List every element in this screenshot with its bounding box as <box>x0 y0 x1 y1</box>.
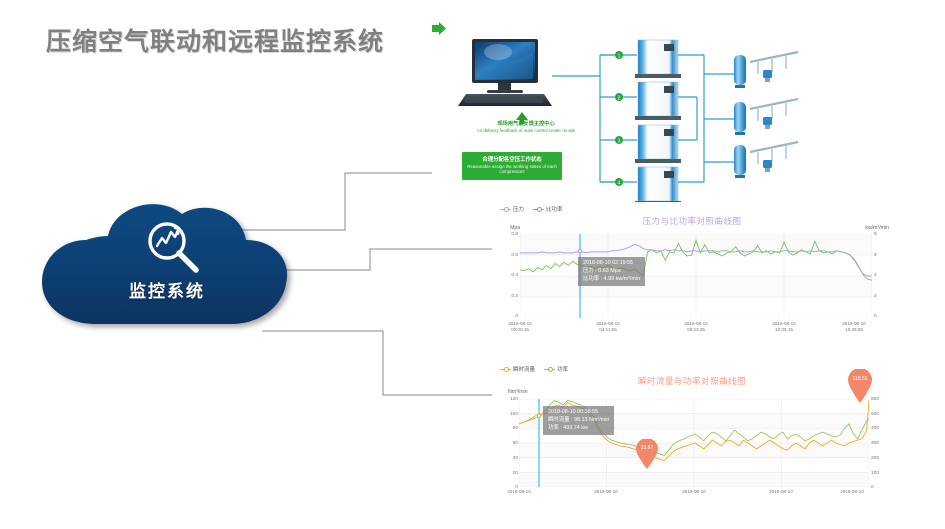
legend-label: 瞬时流量 <box>513 365 535 373</box>
y2-tick: 200 <box>871 456 891 461</box>
legend-item-power[interactable]: 功率 <box>544 365 568 373</box>
y-tick: 80 <box>494 426 518 431</box>
x-tick-time: 12:35:15 <box>775 327 793 332</box>
callout-text-en: Reasonable assign the working states of … <box>462 164 562 175</box>
x-tick-time: 08:23:35 <box>687 327 705 332</box>
compressor-unit <box>635 82 681 120</box>
x-tick: 2018-08-10 00:00:15 <box>498 321 542 332</box>
x-tick-date: 2018-08-10 <box>684 321 708 326</box>
x-tick-time: 00:00:15 <box>511 327 529 332</box>
tooltip-row-flow: 瞬时流量 : 98.13 Nm³/min <box>548 417 609 425</box>
x-tick-date: 2018-08-10 <box>508 321 532 326</box>
air-tank-and-distribution <box>734 142 798 178</box>
legend-label: 比功率 <box>546 205 563 213</box>
y-tick: 0.4 <box>496 273 518 278</box>
y2-tick: 6 <box>874 253 890 258</box>
tooltip-timestamp: 2018-08-10 00:38:55 <box>548 409 609 417</box>
y-tick: 0 <box>496 314 518 319</box>
chart-title: 瞬时流量与功率对照曲线图 <box>492 375 892 387</box>
y2-tick: 300 <box>871 441 891 446</box>
x-tick: 2018-08-10 <box>497 489 541 495</box>
chart-tooltip: 2018-08-10 02:19:55 压力 : 0.63 Mpa 比功率 : … <box>578 257 645 286</box>
x-tick-time: 16:46:55 <box>845 327 863 332</box>
min-marker-label: 33.87 <box>633 445 661 451</box>
desktop-computer-icon <box>458 39 552 106</box>
compressor-unit <box>635 167 681 202</box>
y-tick: 0.6 <box>496 253 518 258</box>
svg-text:2: 2 <box>618 96 621 102</box>
chart-title: 压力与比功率对照曲线图 <box>492 215 892 227</box>
y-tick: 40 <box>494 456 518 461</box>
callout-box: 合理分配各空压工作状态 Reasonable assign the workin… <box>462 152 562 180</box>
legend-label: 压力 <box>513 205 524 213</box>
y2-tick: 4 <box>874 273 890 278</box>
system-topology-diagram: 1 2 3 4 <box>432 22 942 202</box>
y2-axis-unit: kw/m³/min <box>865 225 889 231</box>
tooltip-row-power: 功率 : 493.74 kw <box>548 425 609 433</box>
legend-item-specific-power[interactable]: 比功率 <box>533 205 563 213</box>
air-tank-and-distribution <box>734 99 798 135</box>
monitoring-cloud[interactable]: 监控系统 <box>36 196 298 332</box>
air-tank-and-distribution <box>734 52 798 88</box>
x-tick-time: 04:11:55 <box>599 327 617 332</box>
x-tick: 2018-08-10 12:35:15 <box>762 321 806 332</box>
presentation-slide: 压缩空气联动和远程监控系统 <box>0 0 945 529</box>
y-tick: 20 <box>494 471 518 476</box>
tooltip-timestamp: 2018-08-10 02:19:55 <box>583 260 640 268</box>
y-axis-unit: Nm³/min <box>508 389 528 395</box>
y2-tick: 500 <box>871 412 891 417</box>
y2-tick: 0 <box>874 314 890 319</box>
green-right-arrow-icon <box>432 22 446 35</box>
legend-item-pressure[interactable]: 压力 <box>500 205 524 213</box>
y2-tick: 2 <box>874 294 890 299</box>
chart-legend[interactable]: 瞬时流量 功率 <box>500 365 568 373</box>
max-marker-pin-icon <box>847 369 873 403</box>
legend-marker-icon <box>533 207 544 212</box>
flow-power-chart[interactable]: 瞬时流量 功率 瞬时流量与功率对照曲线图 Nm³/min 120 100 80 … <box>492 363 892 513</box>
y-tick: 0.2 <box>496 294 518 299</box>
x-tick: 2018-08-10 04:11:55 <box>586 321 630 332</box>
legend-label: 功率 <box>557 365 568 373</box>
tooltip-row-specific-power: 比功率 : 4.99 kw/m³/min <box>583 276 640 284</box>
control-center-caption-en: Air delivery feedback of main control ce… <box>458 128 594 133</box>
y2-tick: 400 <box>871 426 891 431</box>
svg-text:1: 1 <box>618 54 621 60</box>
node-dots: 1 2 3 4 <box>615 51 623 187</box>
max-marker-label: 118.55 <box>846 376 874 382</box>
pressure-power-chart[interactable]: 压力 比功率 压力与比功率对照曲线图 Mpa kw/m³/min 0.8 0.6… <box>492 203 892 338</box>
compressor-unit <box>635 40 681 78</box>
x-tick-date: 2018-08-10 <box>772 321 796 326</box>
x-tick: 2018-08-10 <box>759 489 803 495</box>
y-tick: 60 <box>494 441 518 446</box>
control-center-caption: 现场用气量反馈主控中心 Air delivery feedback of mai… <box>458 122 594 133</box>
x-tick-date: 2018-08-10 <box>596 321 620 326</box>
x-tick: 2018-08-10 <box>584 489 628 495</box>
magnifier-chart-icon <box>144 218 202 276</box>
min-marker-pin-icon <box>635 439 659 469</box>
y-tick: 100 <box>494 412 518 417</box>
cloud-label: 监控系统 <box>36 277 298 302</box>
svg-text:4: 4 <box>618 181 621 187</box>
legend-marker-icon <box>500 367 511 372</box>
legend-marker-icon <box>500 207 511 212</box>
tooltip-row-pressure: 压力 : 0.63 Mpa <box>583 268 640 276</box>
x-tick-date: 2018-08-10 <box>842 321 866 326</box>
y2-tick: 0 <box>871 485 891 490</box>
max-marker: 118.55 <box>847 369 873 408</box>
x-tick: 2018-08-10 16:46:55 <box>832 321 876 332</box>
svg-text:3: 3 <box>618 139 621 145</box>
y-tick: 0.8 <box>496 232 518 237</box>
page-title: 压缩空气联动和远程监控系统 <box>46 22 384 58</box>
y-axis-unit: Mpa <box>510 225 520 231</box>
chart-tooltip: 2018-08-10 00:38:55 瞬时流量 : 98.13 Nm³/min… <box>543 406 614 435</box>
y2-tick: 100 <box>871 471 891 476</box>
y2-tick: 8 <box>874 232 890 237</box>
legend-marker-icon <box>544 367 555 372</box>
x-tick: 2018-08-10 <box>830 489 874 495</box>
x-tick: 2018-08-10 08:23:35 <box>674 321 718 332</box>
compressor-unit <box>635 125 681 163</box>
chart-plot-area[interactable] <box>520 234 872 318</box>
x-tick: 2018-08-10 <box>672 489 716 495</box>
min-marker: 33.87 <box>635 439 659 474</box>
y2-tick: 600 <box>871 397 891 402</box>
y-tick: 120 <box>494 397 518 402</box>
legend-item-flow[interactable]: 瞬时流量 <box>500 365 535 373</box>
chart-legend[interactable]: 压力 比功率 <box>500 205 563 213</box>
